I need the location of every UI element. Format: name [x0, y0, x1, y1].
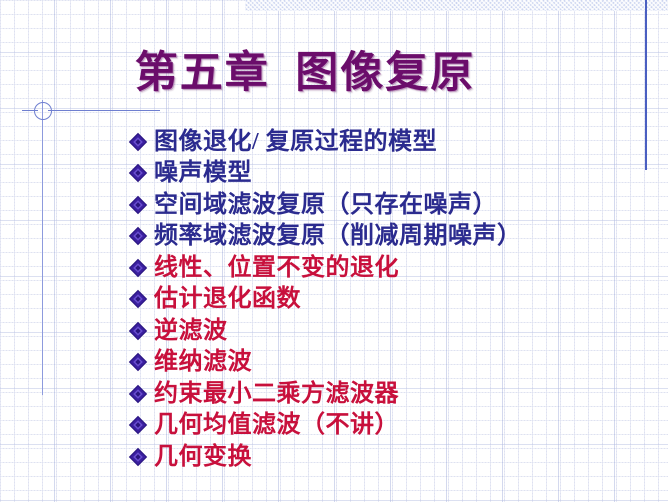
list-item: 频率域滤波复原（削减周期噪声）: [128, 221, 648, 253]
diamond-bullet-icon: [128, 384, 148, 404]
list-item: 逆滤波: [128, 315, 648, 347]
list-item-label: 估计退化函数: [154, 286, 301, 312]
diamond-bullet-icon: [128, 352, 148, 372]
list-item: 几何均值滤波（不讲）: [128, 410, 648, 442]
list-item-label: 约束最小二乘方滤波器: [154, 381, 399, 407]
list-item: 几何变换: [128, 441, 648, 473]
list-item-label: 几何均值滤波（不讲）: [154, 412, 399, 438]
list-item-label: 频率域滤波复原（削减周期噪声）: [154, 223, 522, 249]
diamond-bullet-icon: [128, 321, 148, 341]
list-item: 维纳滤波: [128, 347, 648, 379]
slide-bullet-list: 图像退化/ 复原过程的模型 噪声模型 空间域滤波复原（只存在噪声）: [128, 126, 648, 473]
presentation-slide: 第五章 图像复原 图像退化/ 复原过程的模型 噪声模型: [0, 0, 668, 502]
list-item: 约束最小二乘方滤波器: [128, 378, 648, 410]
top-checkered-band-decoration: [245, 0, 668, 11]
list-item-label: 空间域滤波复原（只存在噪声）: [154, 192, 497, 218]
diamond-bullet-icon: [128, 163, 148, 183]
diamond-bullet-icon: [128, 132, 148, 152]
list-item: 线性、位置不变的退化: [128, 252, 648, 284]
list-item-label: 噪声模型: [154, 160, 252, 186]
list-item-label: 图像退化/ 复原过程的模型: [154, 129, 437, 155]
list-item-label: 维纳滤波: [154, 349, 252, 375]
diamond-bullet-icon: [128, 289, 148, 309]
left-vertical-rule-decoration: [42, 100, 43, 395]
list-item-label: 几何变换: [154, 444, 252, 470]
list-item-label: 逆滤波: [154, 318, 228, 344]
diamond-bullet-icon: [128, 226, 148, 246]
list-item: 估计退化函数: [128, 284, 648, 316]
left-horizontal-rule-decoration: [48, 110, 160, 111]
list-item: 空间域滤波复原（只存在噪声）: [128, 189, 648, 221]
crosshair-circle-icon: [34, 102, 52, 120]
diamond-bullet-icon: [128, 447, 148, 467]
list-item-label: 线性、位置不变的退化: [154, 255, 399, 281]
list-item: 图像退化/ 复原过程的模型: [128, 126, 648, 158]
diamond-bullet-icon: [128, 258, 148, 278]
diamond-bullet-icon: [128, 195, 148, 215]
list-item: 噪声模型: [128, 158, 648, 190]
diamond-bullet-icon: [128, 415, 148, 435]
slide-title: 第五章 图像复原: [0, 38, 610, 100]
